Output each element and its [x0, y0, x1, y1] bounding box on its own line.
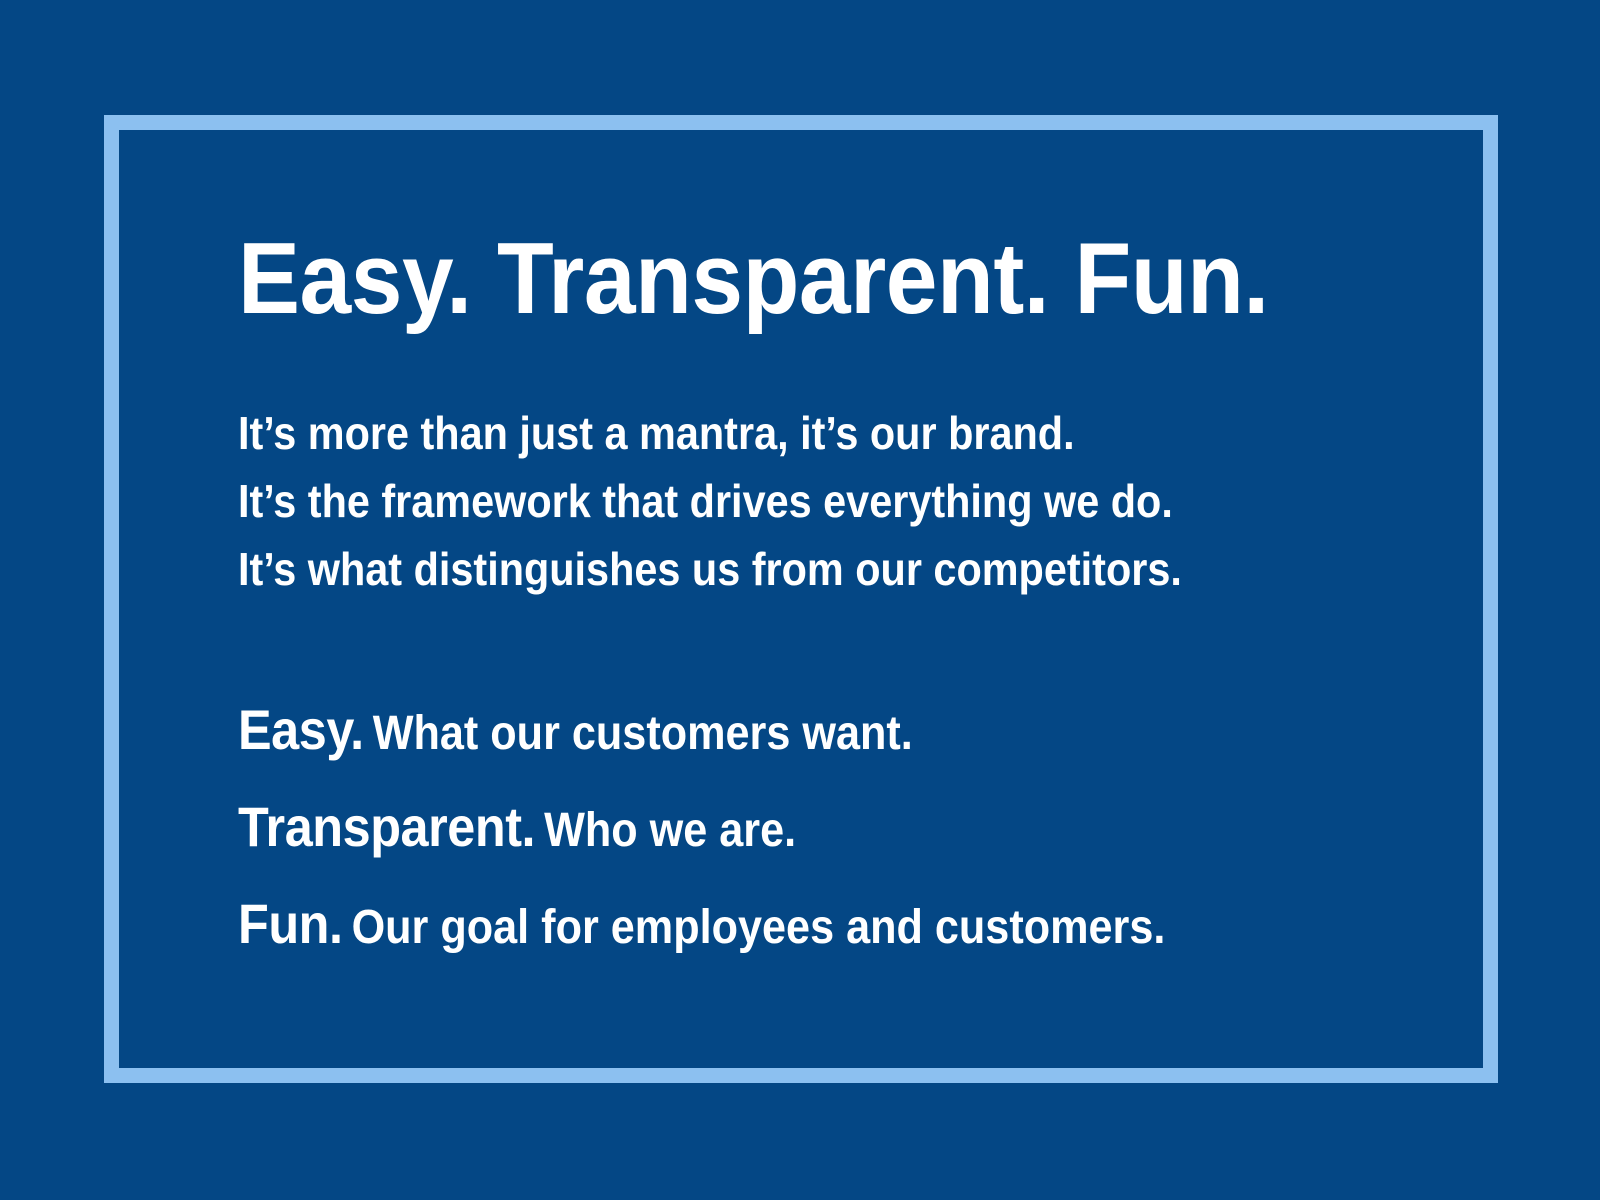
slide-canvas: Easy. Transparent. Fun. It’s more than j… — [0, 0, 1600, 1200]
pillar-word-transparent: Transparent. — [238, 795, 535, 858]
intro-line-2: It’s the framework that drives everythin… — [238, 467, 1300, 535]
pillar-description-easy: What our customers want. — [373, 707, 913, 760]
intro-line-3: It’s what distinguishes us from our comp… — [238, 535, 1300, 603]
slide-content: Easy. Transparent. Fun. It’s more than j… — [238, 228, 1418, 980]
pillar-item-transparent: Transparent.Who we are. — [238, 786, 1300, 883]
pillar-item-easy: Easy.What our customers want. — [238, 689, 1300, 786]
pillar-word-easy: Easy. — [238, 698, 364, 761]
pillar-description-fun: Our goal for employees and customers. — [352, 901, 1166, 954]
intro-line-1: It’s more than just a mantra, it’s our b… — [238, 399, 1300, 467]
pillar-description-transparent: Who we are. — [544, 804, 796, 857]
pillar-list: Easy.What our customers want. Transparen… — [238, 689, 1418, 980]
intro-paragraph: It’s more than just a mantra, it’s our b… — [238, 399, 1418, 603]
pillar-item-fun: Fun.Our goal for employees and customers… — [238, 883, 1300, 980]
pillar-word-fun: Fun. — [238, 892, 343, 955]
page-title: Easy. Transparent. Fun. — [238, 228, 1324, 331]
